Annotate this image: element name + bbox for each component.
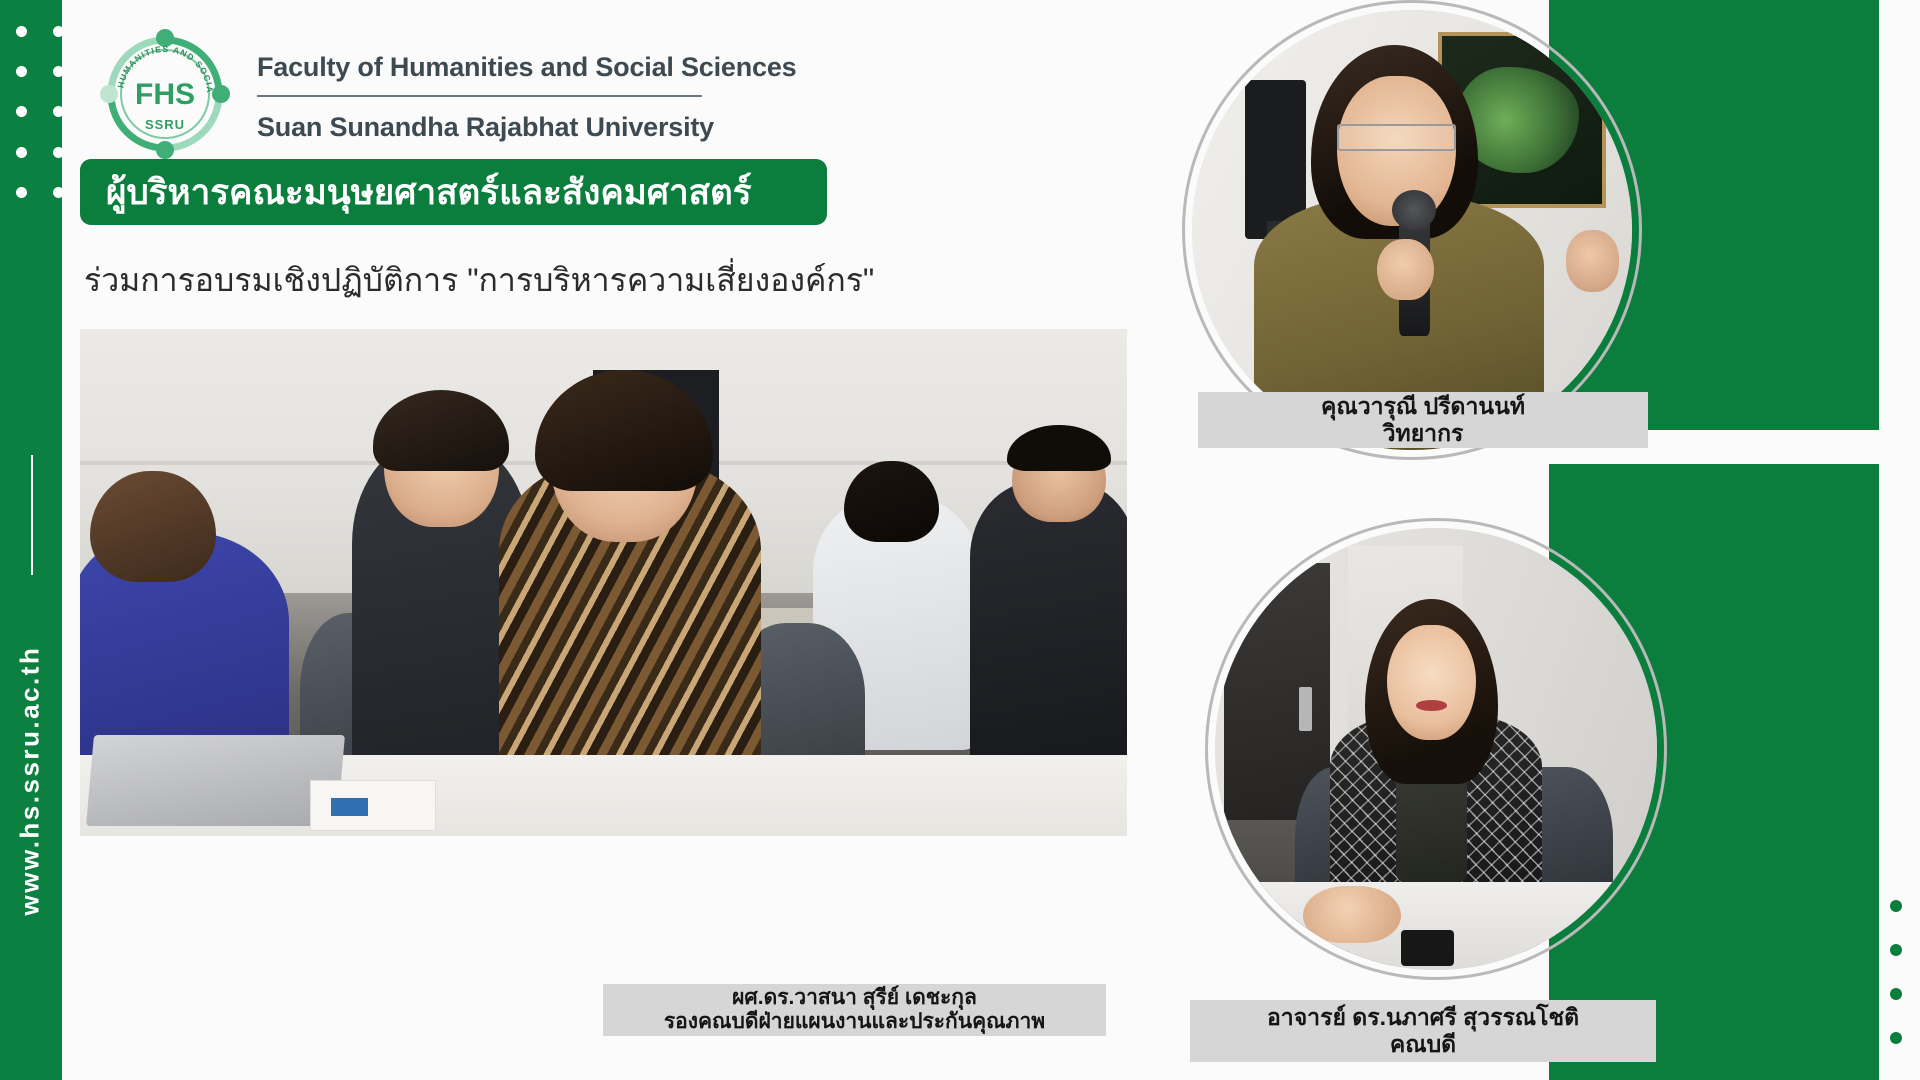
university-name: Suan Sunandha Rajabhat University <box>257 107 796 148</box>
portrait2-caption-name: อาจารย์ ดร.นภาศรี สุวรรณโชติ <box>1267 1004 1579 1031</box>
photo-laptop <box>86 735 345 826</box>
title-banner: ผู้บริหารคณะมนุษยศาสตร์และสังคมศาสตร์ <box>80 159 827 225</box>
portrait-photo-speaker <box>1192 10 1632 450</box>
main-photo-scene <box>80 329 1127 836</box>
poster-canvas: www.hs.ssru.ac.th <box>0 0 1920 1080</box>
portrait1-caption: คุณวารุณี ปรีดานนท์ วิทยากร <box>1198 392 1648 448</box>
main-event-photo <box>80 329 1127 836</box>
portrait2-door-handle <box>1299 687 1312 731</box>
faculty-name: Faculty of Humanities and Social Science… <box>257 47 796 88</box>
photo-paper-accent <box>331 798 368 816</box>
portrait2-face <box>1387 625 1475 740</box>
header-divider <box>257 95 702 97</box>
main-caption-role: รองคณบดีฝ่ายแผนงานและประกันคุณภาพ <box>664 1010 1045 1034</box>
fhs-logo: FACULTY OF HUMANITIES AND SOCIAL SCIENCE… <box>95 24 235 164</box>
portrait-photo-dean <box>1215 528 1657 970</box>
portrait2-lips <box>1416 700 1447 711</box>
portrait1-second-hand <box>1566 230 1619 292</box>
website-url-vertical[interactable]: www.hs.ssru.ac.th <box>15 576 46 916</box>
portrait1-caption-role: วิทยากร <box>1383 420 1464 447</box>
portrait2-caption-role: คณบดี <box>1390 1031 1456 1058</box>
svg-text:SSRU: SSRU <box>145 117 185 132</box>
portrait1-microphone-head <box>1392 190 1436 230</box>
brand-header: FACULTY OF HUMANITIES AND SOCIAL SCIENCE… <box>95 24 796 164</box>
portrait1-hand <box>1377 239 1434 301</box>
portrait2-phone <box>1401 930 1454 965</box>
main-caption-name: ผศ.ดร.วาสนา สุรีย์ เดชะกุล <box>732 986 977 1010</box>
portrait2-caption: อาจารย์ ดร.นภาศรี สุวรรณโชติ คณบดี <box>1190 1000 1656 1062</box>
portrait1-glasses <box>1337 124 1456 150</box>
title-banner-text: ผู้บริหารคณะมนุษยศาสตร์และสังคมศาสตร์ <box>106 175 752 210</box>
main-photo-caption: ผศ.ดร.วาสนา สุรีย์ เดชะกุล รองคณบดีฝ่ายแ… <box>603 984 1106 1036</box>
portrait2-hands <box>1303 886 1400 943</box>
svg-text:FHS: FHS <box>135 78 195 111</box>
photo-attendee-white-shirt-head <box>844 461 938 542</box>
sidebar-divider-rule <box>31 455 33 575</box>
brand-header-text: Faculty of Humanities and Social Science… <box>257 41 796 148</box>
photo-papers <box>310 780 436 831</box>
portrait1-caption-name: คุณวารุณี ปรีดานนท์ <box>1321 393 1525 420</box>
photo-attendee-right <box>970 481 1127 775</box>
photo-attendee-blue-jacket-head <box>90 471 216 583</box>
subtitle-text: ร่วมการอบรมเชิงปฏิบัติการ "การบริหารความ… <box>84 255 874 306</box>
